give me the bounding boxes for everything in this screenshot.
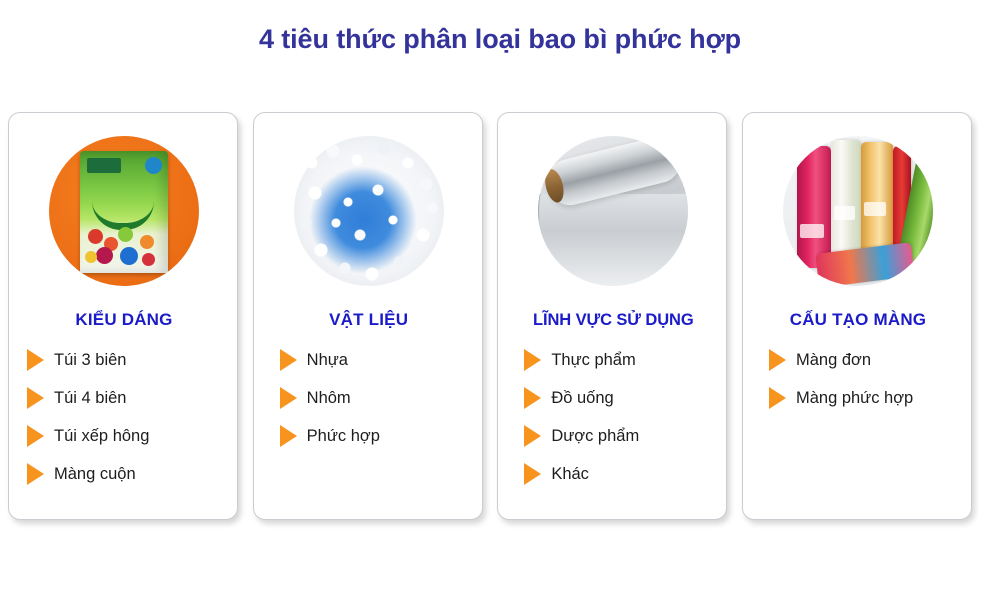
film-sheet-layer (538, 194, 688, 286)
list-item[interactable]: Túi xếp hông (9, 417, 238, 455)
list-item-label: Thực phẩm (551, 350, 635, 370)
list-item-label: Đồ uống (551, 388, 613, 408)
list-item[interactable]: Dược phẩm (498, 417, 727, 455)
card-heading: CẤU TẠO MÀNG (743, 309, 972, 331)
arrow-right-icon (280, 425, 297, 447)
pouch-count-badge (145, 157, 162, 174)
card-photo-container (254, 136, 483, 294)
list-item[interactable]: Đồ uống (498, 379, 727, 417)
list-item-label: Khác (551, 464, 589, 484)
candy-dot (142, 253, 155, 266)
plastic-pellets-photo (294, 136, 444, 286)
list-item-label: Túi 3 biên (54, 350, 126, 370)
pouch-body-shape (80, 151, 168, 273)
arrow-right-icon (280, 349, 297, 371)
card-item-list: Màng đơn Màng phức hợp (743, 341, 972, 417)
list-item[interactable]: Thực phẩm (498, 341, 727, 379)
list-item-label: Màng đơn (796, 350, 871, 370)
arrow-right-icon (524, 349, 541, 371)
criteria-card-kieu-dang[interactable]: KIỂU DÁNG Túi 3 biên Túi 4 biên Túi xếp … (8, 112, 238, 520)
candy-dot (118, 227, 133, 242)
list-item[interactable]: Nhựa (254, 341, 483, 379)
list-item-label: Màng cuộn (54, 464, 136, 484)
criteria-card-row: KIỂU DÁNG Túi 3 biên Túi 4 biên Túi xếp … (8, 112, 972, 520)
candy-dot (85, 251, 97, 263)
roll-label-band (800, 224, 824, 238)
list-item-label: Túi 4 biên (54, 388, 126, 408)
candy-pouch-photo (49, 136, 199, 286)
card-item-list: Túi 3 biên Túi 4 biên Túi xếp hông Màng … (9, 341, 238, 493)
arrow-right-icon (524, 387, 541, 409)
list-item-label: Dược phẩm (551, 426, 639, 446)
card-heading: KIỂU DÁNG (9, 309, 238, 331)
card-photo-container (743, 136, 972, 294)
arrow-right-icon (524, 425, 541, 447)
infographic-page: 4 tiêu thức phân loại bao bì phức hợp (0, 0, 1000, 600)
candy-dot (88, 229, 103, 244)
card-heading: VẬT LIỆU (254, 309, 483, 331)
printed-roll (797, 146, 831, 268)
list-item-label: Nhôm (307, 388, 351, 408)
criteria-card-cau-tao-mang[interactable]: CẤU TẠO MÀNG Màng đơn Màng phức hợp (742, 112, 972, 520)
roll-label-band (864, 202, 886, 216)
criteria-card-vat-lieu[interactable]: VẬT LIỆU Nhựa Nhôm Phức hợp (253, 112, 483, 520)
criteria-card-linh-vuc-su-dung[interactable]: LĨNH VỰC SỬ DỤNG Thực phẩm Đồ uống Dược … (497, 112, 727, 520)
printed-film-rolls-photo (783, 136, 933, 286)
card-photo-container (9, 136, 238, 294)
silver-film-roll-photo (538, 136, 688, 286)
arrow-right-icon (769, 387, 786, 409)
candy-dot (96, 247, 113, 264)
list-item[interactable]: Túi 4 biên (9, 379, 238, 417)
arrow-right-icon (27, 387, 44, 409)
pellet-grains-layer (294, 136, 444, 286)
list-item-label: Nhựa (307, 350, 348, 370)
arrow-right-icon (27, 349, 44, 371)
list-item[interactable]: Túi 3 biên (9, 341, 238, 379)
list-item-label: Túi xếp hông (54, 426, 149, 446)
list-item[interactable]: Màng đơn (743, 341, 972, 379)
list-item[interactable]: Khác (498, 455, 727, 493)
arrow-right-icon (524, 463, 541, 485)
candy-dot (140, 235, 154, 249)
card-heading: LĨNH VỰC SỬ DỤNG (498, 309, 727, 331)
candy-dot (120, 247, 138, 265)
list-item[interactable]: Phức hợp (254, 417, 483, 455)
list-item-label: Phức hợp (307, 426, 380, 446)
arrow-right-icon (769, 349, 786, 371)
arrow-right-icon (27, 425, 44, 447)
list-item[interactable]: Màng phức hợp (743, 379, 972, 417)
card-photo-container (498, 136, 727, 294)
card-item-list: Thực phẩm Đồ uống Dược phẩm Khác (498, 341, 727, 493)
list-item[interactable]: Nhôm (254, 379, 483, 417)
list-item[interactable]: Màng cuộn (9, 455, 238, 493)
roll-label-band (834, 206, 855, 220)
list-item-label: Màng phức hợp (796, 388, 913, 408)
card-item-list: Nhựa Nhôm Phức hợp (254, 341, 483, 455)
pouch-smile-graphic (92, 201, 154, 230)
arrow-right-icon (27, 463, 44, 485)
page-title: 4 tiêu thức phân loại bao bì phức hợp (0, 22, 1000, 56)
arrow-right-icon (280, 387, 297, 409)
pouch-brand-logo (87, 158, 121, 173)
